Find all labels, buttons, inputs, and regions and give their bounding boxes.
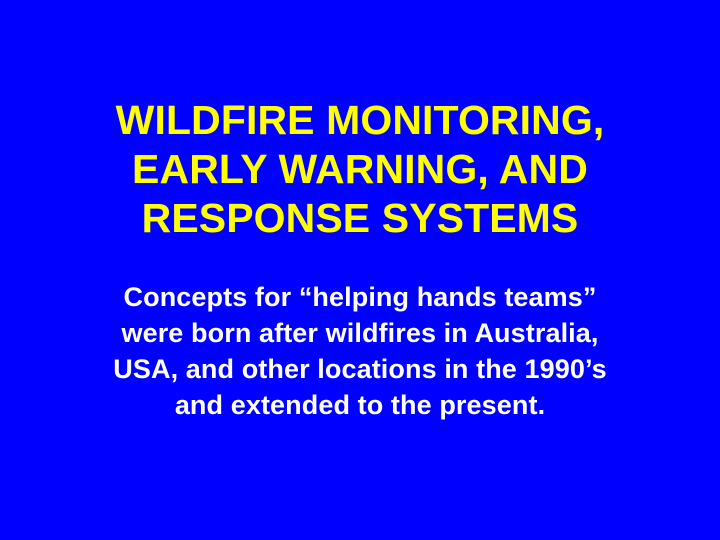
body-line-3: USA, and other locations in the 1990’s xyxy=(0,351,720,387)
body-line-1: Concepts for “helping hands teams” xyxy=(0,279,720,315)
title-line-1: WILDFIRE MONITORING, xyxy=(0,96,720,145)
slide-title: WILDFIRE MONITORING, EARLY WARNING, AND … xyxy=(0,96,720,243)
slide-body-text: Concepts for “helping hands teams” were … xyxy=(0,279,720,423)
presentation-slide: WILDFIRE MONITORING, EARLY WARNING, AND … xyxy=(0,0,720,540)
body-line-4: and extended to the present. xyxy=(0,387,720,423)
body-line-2: were born after wildfires in Australia, xyxy=(0,315,720,351)
title-line-2: EARLY WARNING, AND xyxy=(0,145,720,194)
title-line-3: RESPONSE SYSTEMS xyxy=(0,194,720,243)
